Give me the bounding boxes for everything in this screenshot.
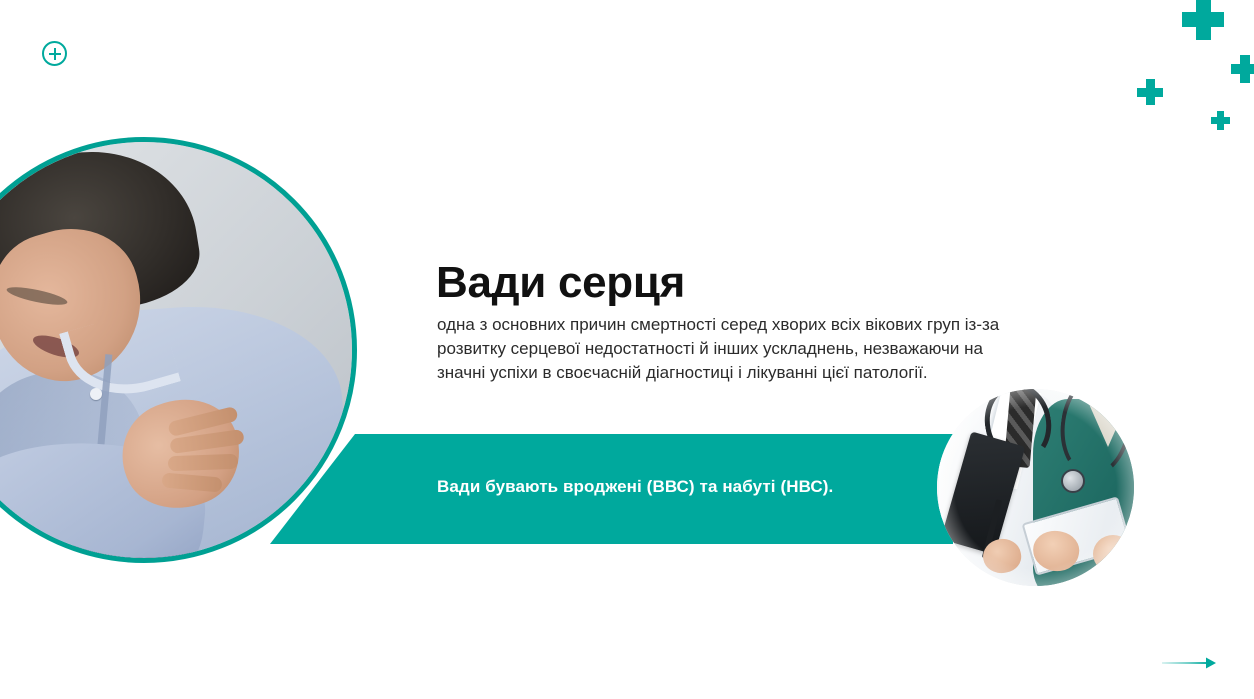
- body-paragraph: одна з основних причин смертності серед …: [437, 313, 1029, 385]
- cross-small: [1211, 111, 1230, 130]
- doctors-photo-circle: [937, 389, 1134, 586]
- cross-right-edge: [1231, 55, 1254, 83]
- patient-photo-circle: [0, 137, 357, 563]
- plus-vertical-bar: [54, 48, 57, 60]
- circle-plus-icon: [42, 41, 67, 66]
- next-arrow-icon[interactable]: [1162, 655, 1218, 671]
- banner-text: Вади бувають вроджені (ВВС) та набуті (Н…: [437, 477, 957, 497]
- slide-canvas: Вади бувають вроджені (ВВС) та набуті (Н…: [0, 0, 1254, 699]
- arrow-right-glyph: [1162, 655, 1218, 671]
- man-clutching-chest-photo: [0, 142, 352, 558]
- cross-large: [1182, 0, 1224, 40]
- page-title: Вади серця: [436, 260, 685, 306]
- cross-medium: [1137, 79, 1163, 105]
